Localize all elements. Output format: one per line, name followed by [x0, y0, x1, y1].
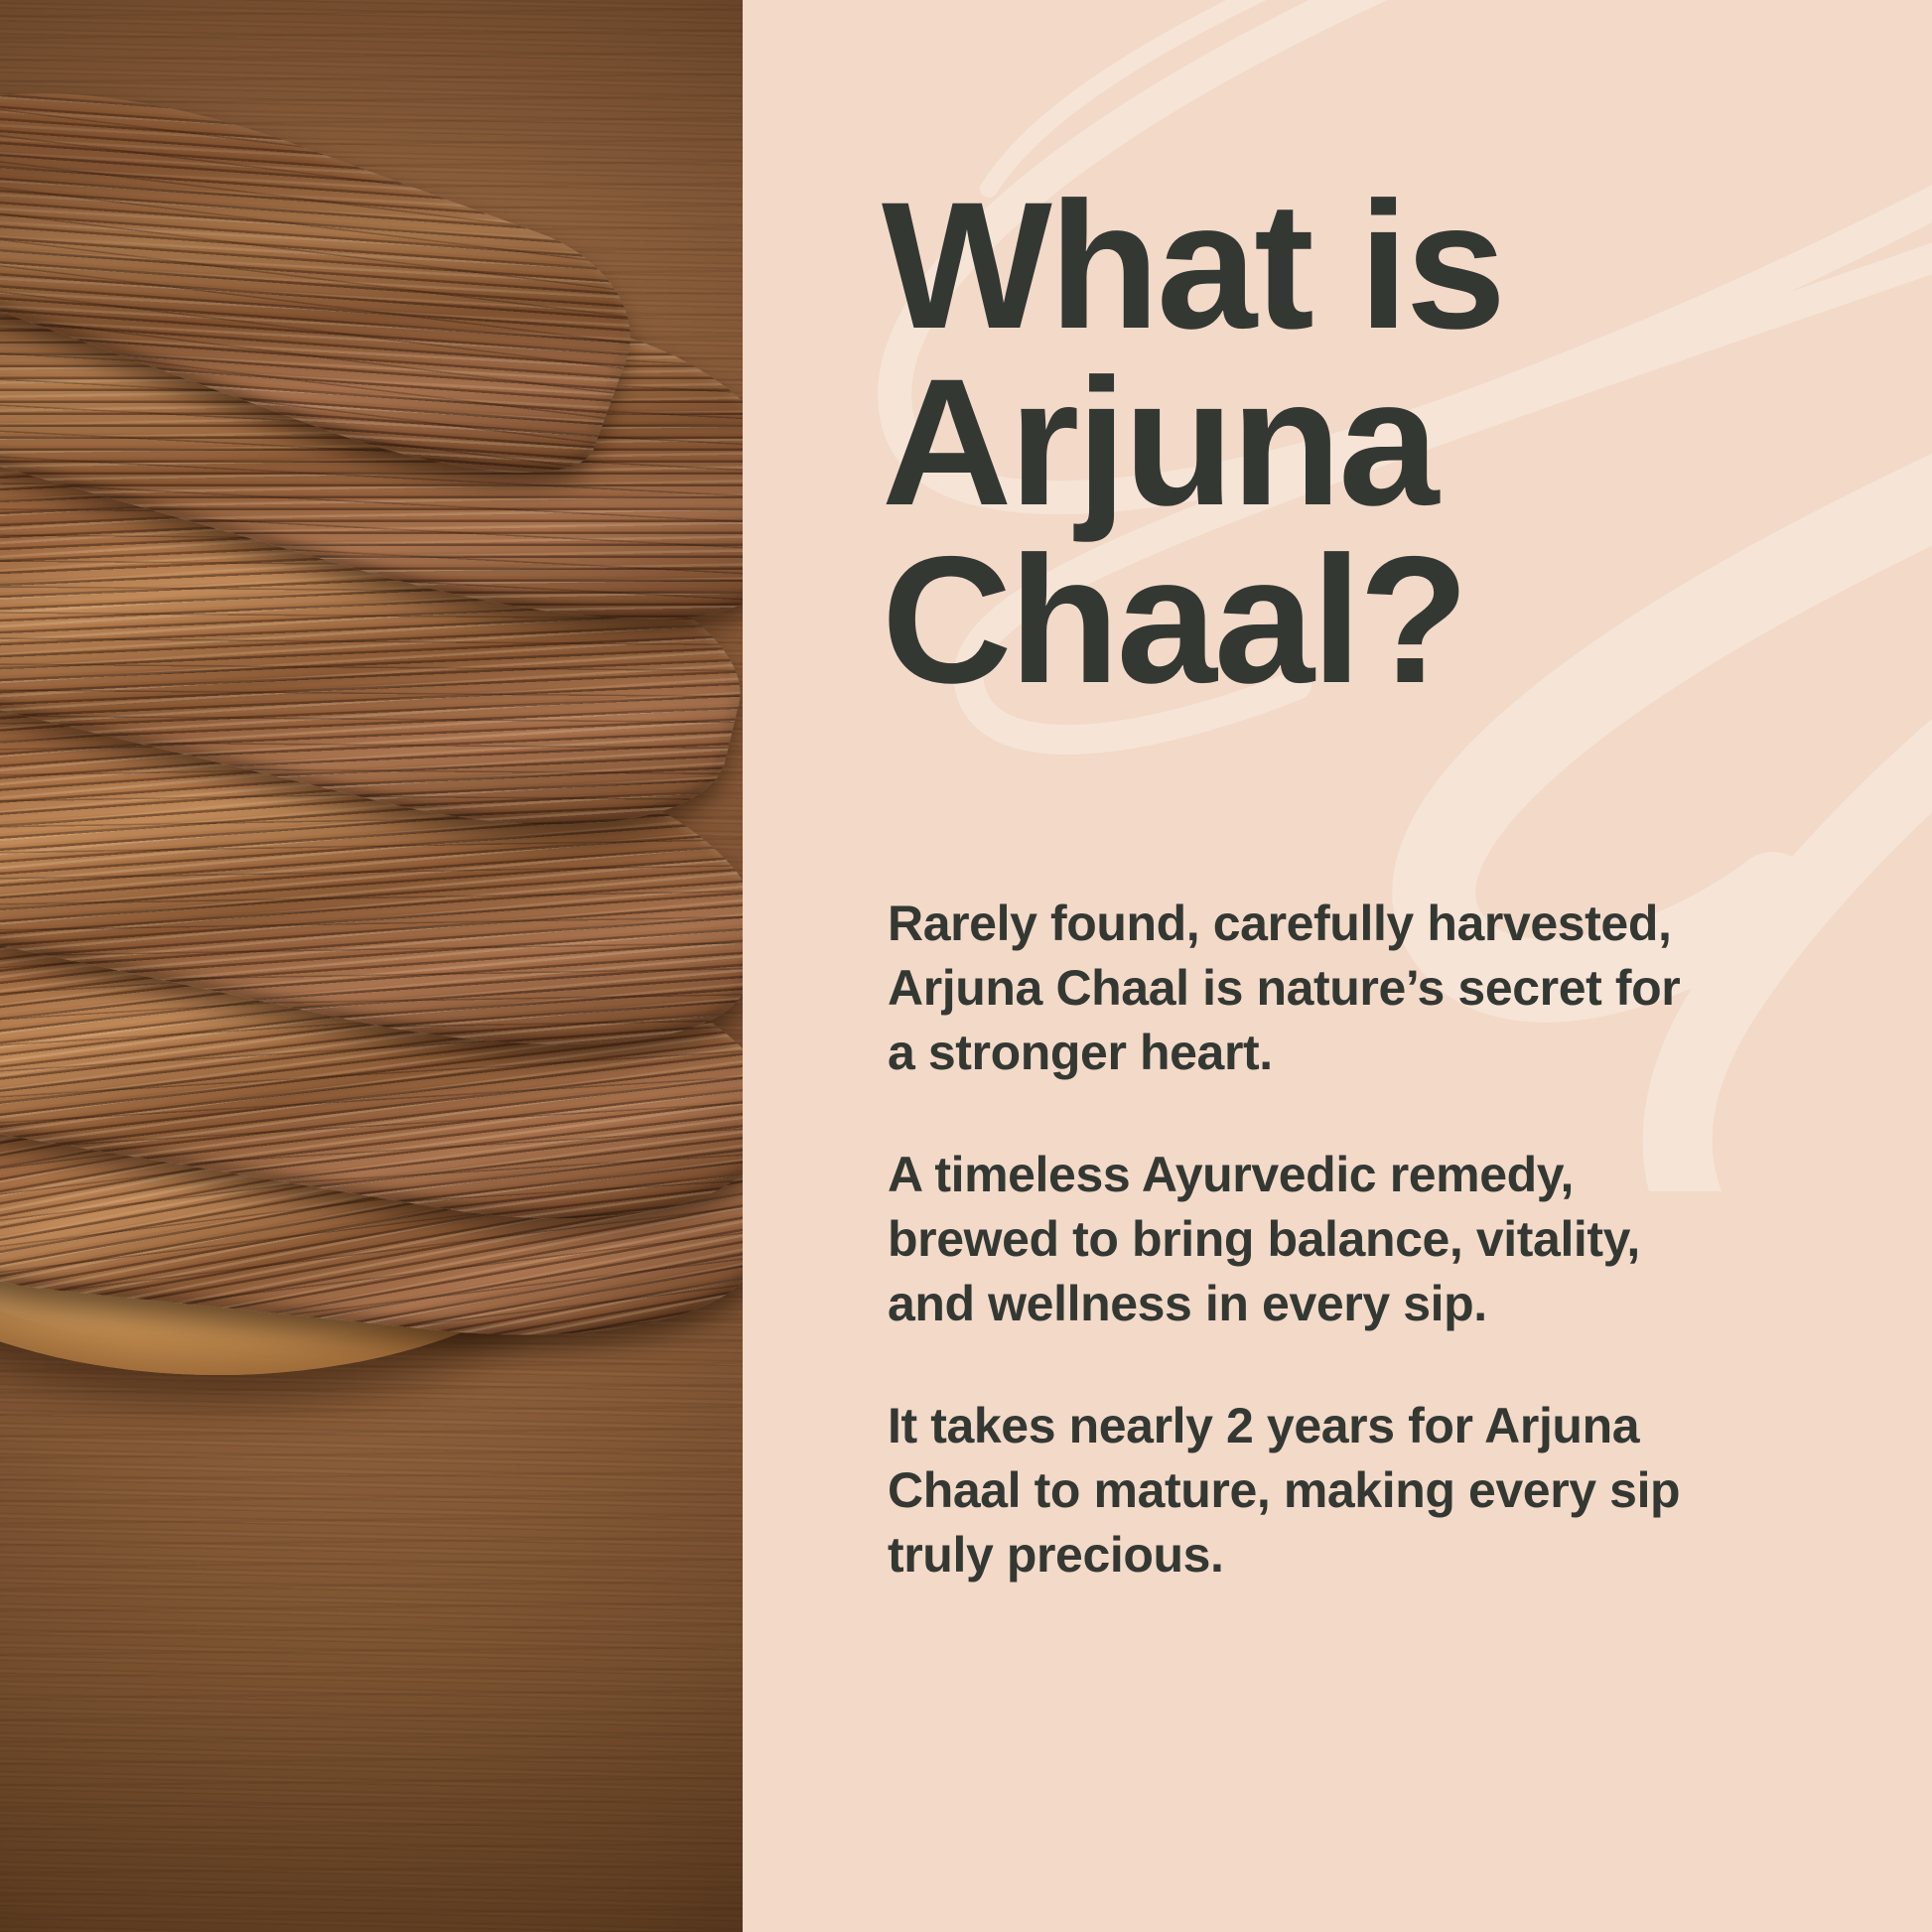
- copy-block: What is Arjuna Chaal? Rarely found, care…: [743, 0, 1932, 1587]
- paragraph-2: A timeless Ayurvedic remedy, brewed to b…: [888, 1143, 1682, 1336]
- content-panel: What is Arjuna Chaal? Rarely found, care…: [743, 0, 1932, 1932]
- paragraph-3: It takes nearly 2 years for Arjuna Chaal…: [888, 1394, 1682, 1587]
- page-title: What is Arjuna Chaal?: [882, 177, 1735, 708]
- photo-vignette: [0, 0, 743, 1932]
- paragraph-1: Rarely found, carefully harvested, Arjun…: [888, 892, 1682, 1085]
- body-copy: Rarely found, carefully harvested, Arjun…: [888, 892, 1682, 1587]
- arjuna-bark-photo: [0, 0, 743, 1932]
- poster: What is Arjuna Chaal? Rarely found, care…: [0, 0, 1932, 1932]
